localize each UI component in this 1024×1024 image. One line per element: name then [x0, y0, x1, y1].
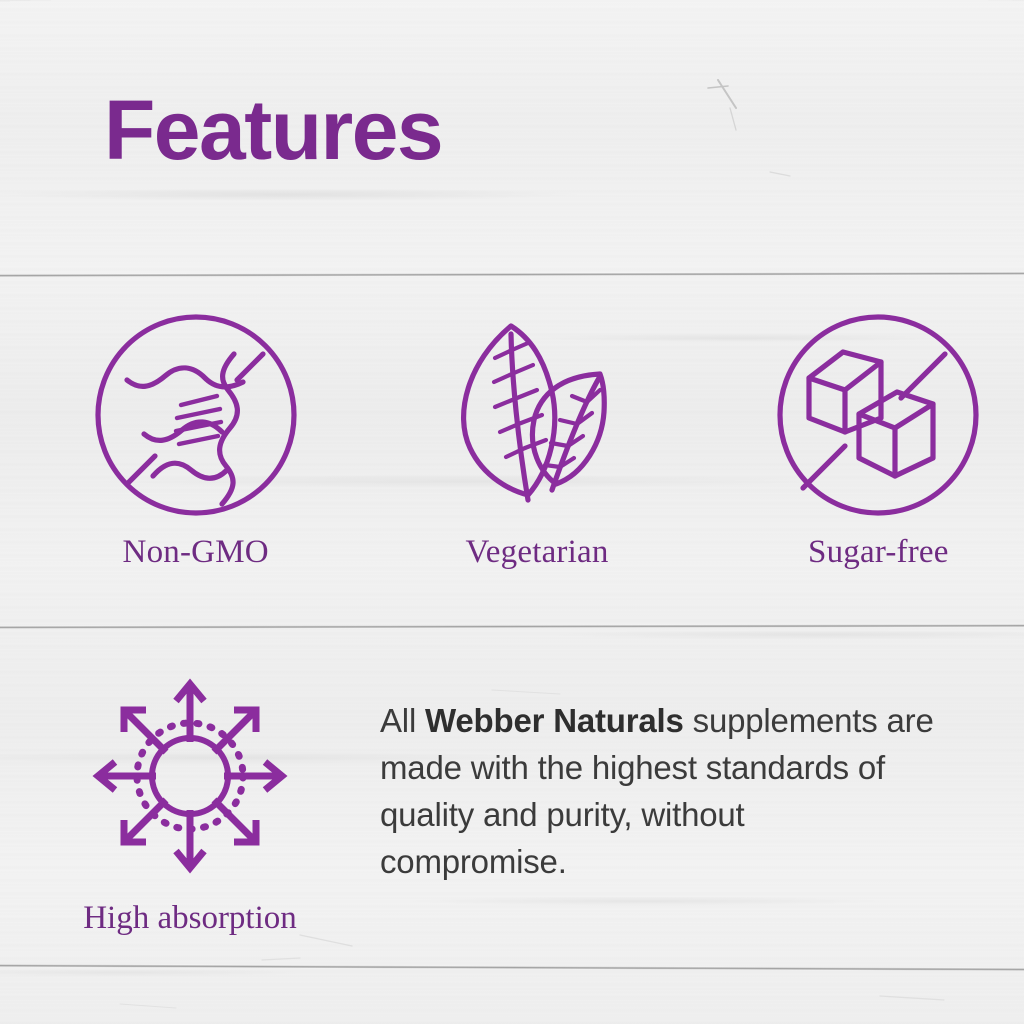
blurb-lead: All [380, 702, 425, 739]
page-title: Features [104, 88, 442, 172]
no-sugar-cubes-icon [773, 310, 983, 520]
feature-sugar-free: Sugar-free [733, 310, 1024, 571]
features-panel: Features [0, 0, 1024, 1024]
feature-label: Vegetarian [465, 534, 608, 571]
high-absorption-radiating-arrows-icon [82, 668, 298, 884]
feature-label: Non-GMO [123, 534, 269, 571]
blurb-brand: Webber Naturals [425, 702, 684, 739]
no-gmo-dna-icon [91, 310, 301, 520]
feature-high-absorption: High absorption [0, 668, 370, 937]
feature-row: Non-GMO [0, 310, 1024, 571]
leaves-icon [432, 310, 642, 520]
brand-blurb: All Webber Naturals supplements are made… [380, 698, 940, 885]
feature-non-gmo: Non-GMO [50, 310, 341, 571]
bottom-section: High absorption All Webber Naturals supp… [0, 668, 1024, 937]
feature-label: Sugar-free [808, 534, 949, 571]
feature-vegetarian: Vegetarian [391, 310, 682, 571]
feature-label: High absorption [83, 900, 297, 937]
